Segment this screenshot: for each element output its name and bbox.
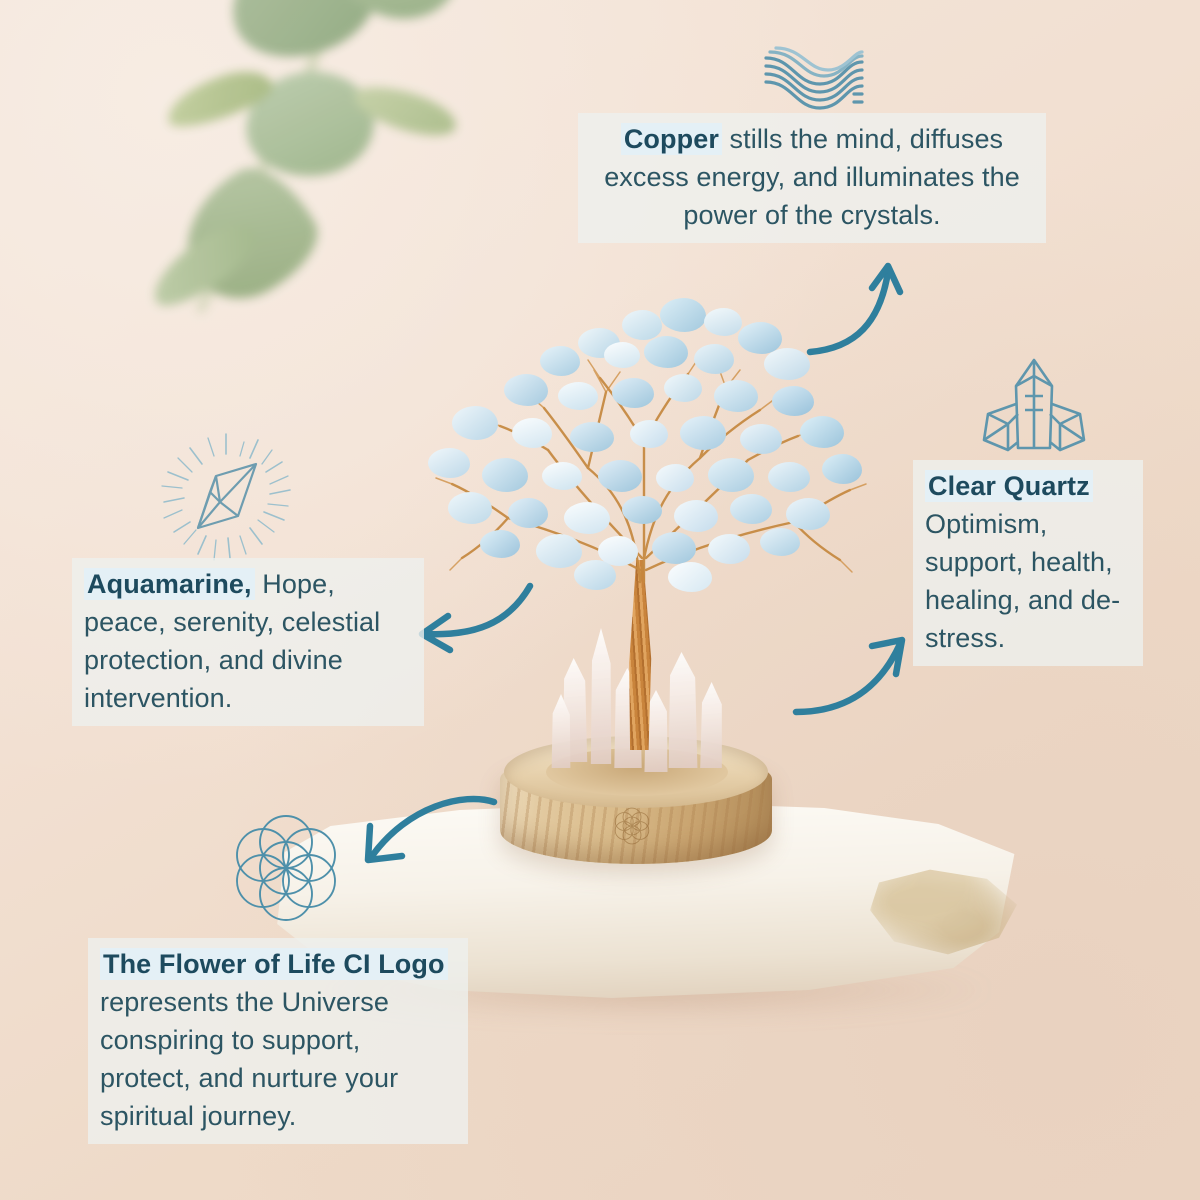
arrow-up-right-to-quartz (788, 628, 914, 724)
flower-of-life-engraving-icon (604, 798, 660, 854)
eucalyptus-leaf (214, 0, 395, 78)
gemstone-chip (800, 416, 844, 448)
note-copper-term: Copper (621, 123, 722, 155)
gemstone-chip (622, 310, 662, 340)
gemstone-chip (694, 344, 734, 374)
gemstone-chip (660, 298, 706, 332)
gemstone-chip (508, 498, 548, 528)
note-flower-term: The Flower of Life CI Logo (100, 948, 448, 980)
gemstone-chip (680, 416, 726, 450)
gemstone-chip (612, 378, 654, 408)
sparkling-gem-icon (158, 428, 294, 564)
gemstone-chip (540, 346, 580, 376)
gemstone-chip (558, 382, 598, 410)
gemstone-chip (664, 374, 702, 402)
gemstone-chip (822, 454, 862, 484)
gemstone-chip (740, 424, 782, 454)
arrow-left-to-aquamarine (412, 578, 540, 660)
gemstone-chip (504, 374, 548, 406)
note-quartz-body: Optimism, support, health, healing, and … (925, 509, 1120, 653)
gemstone-chip (786, 498, 830, 530)
gemstone-chip (574, 560, 616, 590)
note-aquamarine: Aquamarine, Hope, peace, serenity, celes… (72, 558, 424, 726)
gemstone-chip (536, 534, 582, 568)
note-copper: Copper stills the mind, diffuses excess … (578, 113, 1046, 243)
note-flower-body: represents the Universe conspiring to su… (100, 987, 398, 1131)
gemstone-chip (630, 420, 668, 448)
gemstone-chip (512, 418, 552, 448)
gemstone-chip (760, 528, 800, 556)
gemstone-chip (708, 458, 754, 492)
gemstone-chip (622, 496, 662, 524)
gemstone-chip (482, 458, 528, 492)
gemstone-chip (714, 380, 758, 412)
arrow-up-right-to-copper (800, 252, 910, 360)
gemstone-chip (570, 422, 614, 452)
gemstone-chip (604, 342, 640, 368)
note-aqua-term: Aquamarine, (84, 568, 255, 600)
gemstone-chip (674, 500, 718, 532)
infographic-canvas: Copper stills the mind, diffuses excess … (0, 0, 1200, 1200)
eucalyptus-sprig (120, 0, 440, 360)
gemstone-chip (772, 386, 814, 416)
flower-of-life-icon (230, 812, 342, 924)
gemstone-chip (542, 462, 582, 490)
copper-wire-icon (758, 40, 870, 118)
gemstone-chip (708, 534, 750, 564)
gemstone-chip (452, 406, 498, 440)
gemstone-chip (730, 494, 772, 524)
gemstone-chip (644, 336, 688, 368)
note-clear-quartz: Clear Quartz Optimism, support, health, … (913, 460, 1143, 666)
gemstone-chip (480, 530, 520, 558)
note-flower-of-life: The Flower of Life CI Logo represents th… (88, 938, 468, 1144)
gemstone-chip (598, 460, 642, 492)
arrow-down-left-to-flower (352, 784, 502, 876)
gemstone-chip (656, 464, 694, 492)
gemstone-chip (768, 462, 810, 492)
gemstone-chip (564, 502, 610, 534)
gemstone-chip (668, 562, 712, 592)
gemstone-chip (428, 448, 470, 478)
crystal-cluster-icon (978, 352, 1090, 464)
gemstone-chip (704, 308, 742, 336)
gemstone-chip (652, 532, 696, 564)
note-quartz-term: Clear Quartz (925, 470, 1093, 502)
gemstone-chip (448, 492, 492, 524)
